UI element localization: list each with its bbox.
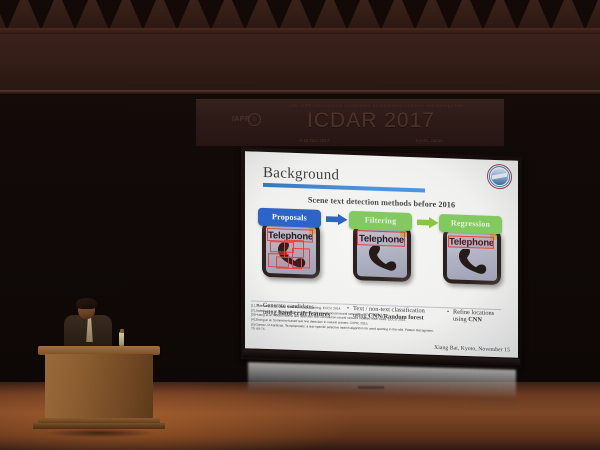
conference-photo: IAPR ◎ 14th IAPR International Conferenc…: [0, 0, 600, 450]
pipeline-stage-regression: Regression Telephone: [439, 214, 515, 288]
proposal-box: [292, 247, 310, 268]
water-bottle: [119, 332, 124, 346]
stage-label-proposals: Proposals: [258, 207, 321, 227]
hust-university-seal-icon: [487, 164, 512, 190]
telephone-sign-3: Telephone: [443, 227, 505, 287]
reference-list: [1] Jaderberg et al. Deep features for t…: [251, 301, 501, 341]
banner-location: Kyoto, Japan: [416, 138, 443, 143]
arrow-right-icon-1: [326, 213, 348, 226]
stage-label-regression: Regression: [439, 214, 502, 234]
slide-footer: Xiang Bai, Kyoto, November 15: [434, 345, 510, 354]
telephone-sign-2: Telephone: [353, 224, 415, 284]
presentation-slide: Background Scene text detection methods …: [245, 151, 518, 358]
telephone-sign-1: Telephone: [262, 220, 324, 280]
icdar-banner: IAPR ◎ 14th IAPR International Conferenc…: [196, 99, 504, 147]
speaker-hair: [76, 298, 97, 309]
filtered-box: [357, 230, 405, 247]
podium-shadow: [25, 428, 175, 438]
banner-dates: 9-15 Nov 2017: [299, 138, 329, 143]
upper-wall: [0, 34, 600, 92]
projection-screen: Background Scene text detection methods …: [245, 151, 518, 358]
stage-label-filtering: Filtering: [349, 210, 412, 230]
reflection-highlight: [358, 386, 384, 389]
banner-date-location: 9-15 Nov 2017 Kyoto, Japan: [256, 138, 486, 143]
arrow-right-icon-2: [417, 216, 439, 229]
podium-body: [45, 354, 153, 422]
pipeline-stage-filtering: Filtering Telephone: [349, 210, 425, 284]
pipeline-stage-proposals: Proposals Telephone: [258, 207, 334, 281]
telephone-handset-icon-3: [455, 248, 489, 277]
frieze-scallop-row: [0, 0, 600, 30]
regressed-box: [448, 235, 494, 249]
water-bottle-cap: [120, 329, 124, 333]
pipeline-diagram: Proposals Telephone: [251, 207, 512, 308]
banner-title: ICDAR 2017: [196, 109, 504, 133]
telephone-handset-icon-2: [365, 245, 399, 274]
projection-screen-frame: Background Scene text detection methods …: [241, 147, 522, 369]
banner-subtitle-top: 14th IAPR International Conference on Do…: [288, 103, 493, 108]
